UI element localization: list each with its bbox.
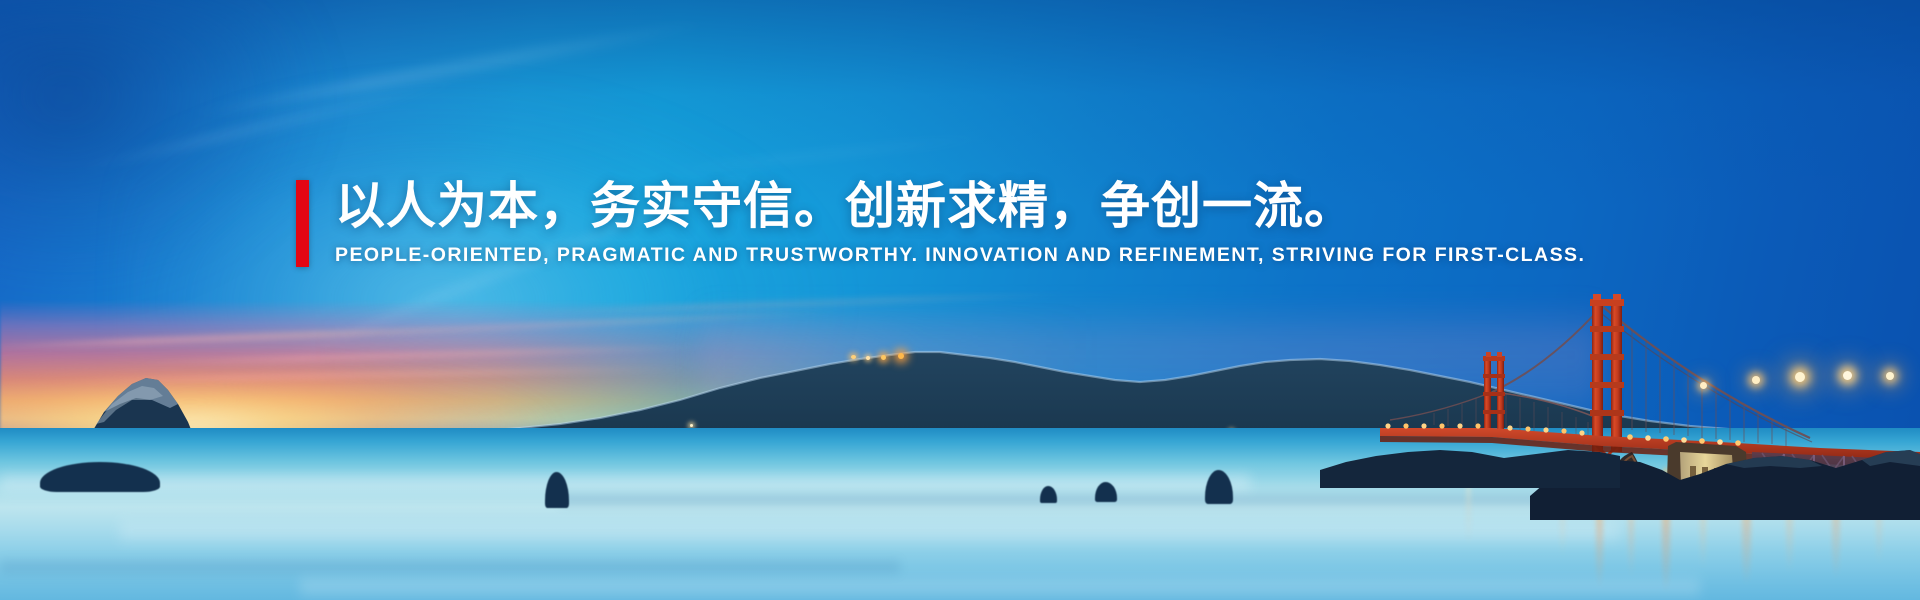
page-subtitle: PEOPLE-ORIENTED, PRAGMATIC AND TRUSTWORT… (335, 244, 1585, 267)
page-title: 以人为本，务实守信。创新求精，争创一流。 (335, 180, 1585, 233)
hero-banner: 以人为本，务实守信。创新求精，争创一流。 PEOPLE-ORIENTED, PR… (0, 0, 1920, 600)
bridge-lamp-starburst-4 (1752, 376, 1760, 384)
banner-copy-block: 以人为本，务实守信。创新求精，争创一流。 PEOPLE-ORIENTED, PR… (296, 180, 1585, 267)
shore-lights-center (690, 424, 693, 427)
red-accent-bar (296, 180, 309, 267)
ridge-light-4 (898, 353, 904, 359)
bridge-lamp-starburst-2 (1843, 371, 1852, 380)
ridge-light-2 (866, 356, 870, 360)
bridge-lamp-starburst-3 (1886, 372, 1894, 380)
ridge-light-3 (881, 355, 886, 360)
ridge-light-1 (851, 355, 856, 359)
foreground-rocks-center (1320, 418, 1620, 488)
bridge-lamp-starburst-1 (1795, 372, 1805, 382)
water-highlight-band-3 (300, 574, 1700, 600)
banner-text-group: 以人为本，务实守信。创新求精，争创一流。 PEOPLE-ORIENTED, PR… (335, 180, 1585, 267)
bridge-lamp-starburst-5 (1700, 382, 1707, 389)
